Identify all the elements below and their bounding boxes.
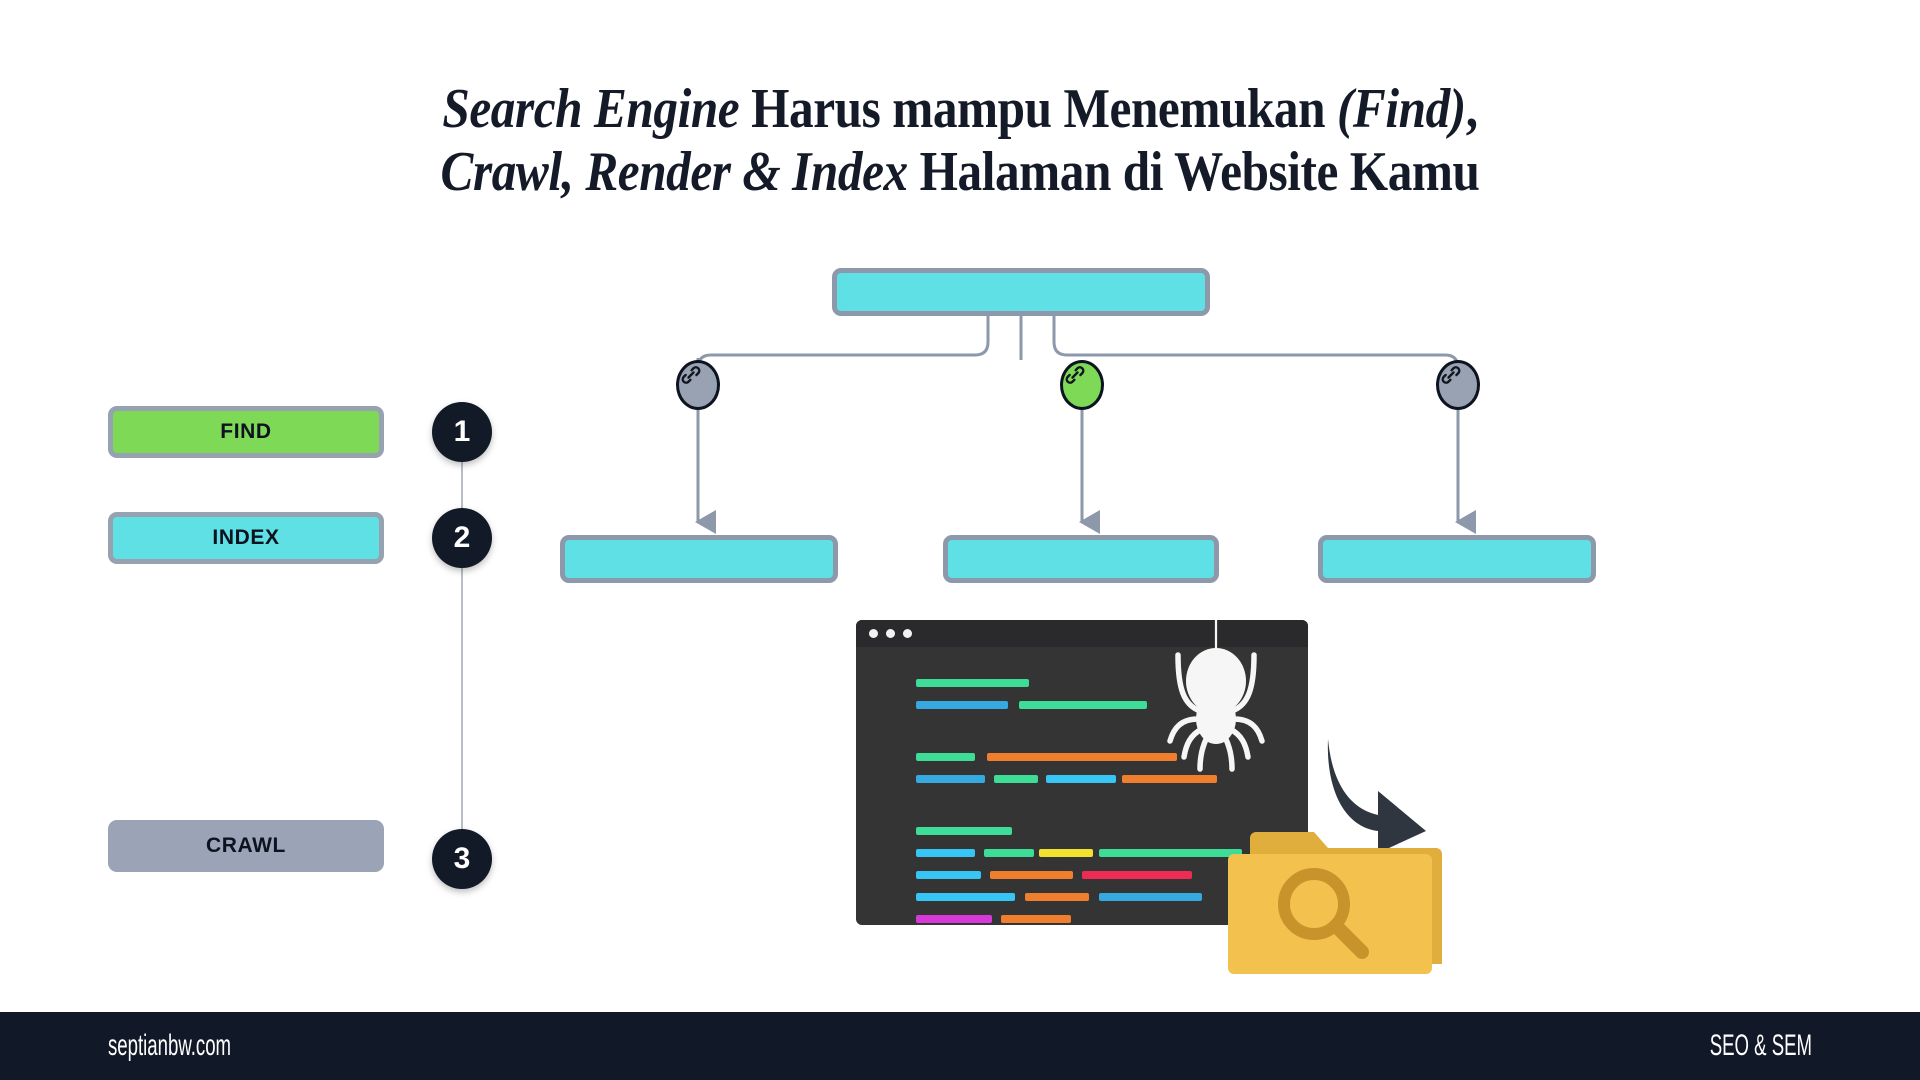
step-badge-3-number: 3 <box>454 842 471 876</box>
code-line-segment <box>1099 893 1202 901</box>
code-line-segment <box>1025 893 1089 901</box>
code-line-segment <box>916 679 1029 687</box>
link-icon[interactable] <box>1060 360 1104 410</box>
code-line-segment <box>916 849 975 857</box>
code-line-segment <box>916 701 1008 709</box>
title-text-2: , <box>1466 78 1478 140</box>
site-tree-diagram <box>560 230 1680 630</box>
code-line-segment <box>984 849 1034 857</box>
code-line-segment <box>1039 849 1093 857</box>
step-chip-index-label: INDEX <box>212 526 279 550</box>
code-line-segment <box>1001 915 1071 923</box>
folder-search-icon <box>1228 822 1450 974</box>
tree-node-child-2[interactable] <box>943 535 1219 583</box>
step-chip-index[interactable]: INDEX <box>108 512 384 564</box>
tree-node-child-1[interactable] <box>560 535 838 583</box>
steps-column: FIND INDEX CRAWL 1 2 3 <box>0 0 520 1080</box>
code-line-segment <box>1019 701 1147 709</box>
window-dot-icon <box>869 629 878 638</box>
step-chip-crawl[interactable]: CRAWL <box>108 820 384 872</box>
footer-site-name: septianbw.com <box>108 1029 231 1063</box>
window-dot-icon <box>886 629 895 638</box>
footer-bar: septianbw.com SEO & SEM <box>0 1012 1920 1080</box>
code-line-segment <box>1046 775 1116 783</box>
step-badge-2: 2 <box>432 508 492 568</box>
link-icon-glyph <box>1439 363 1463 387</box>
code-line-segment <box>916 827 1012 835</box>
link-icon[interactable] <box>676 360 720 410</box>
step-chip-find-label: FIND <box>220 420 271 444</box>
title-text-3: Halaman di Website Kamu <box>908 141 1480 203</box>
title-text-1: Harus mampu Menemukan <box>739 78 1337 140</box>
step-chip-find[interactable]: FIND <box>108 406 384 458</box>
tree-node-child-3[interactable] <box>1318 535 1596 583</box>
link-icon-glyph <box>1063 363 1087 387</box>
link-icon-glyph <box>679 363 703 387</box>
step-badge-1-number: 1 <box>454 415 471 449</box>
tree-node-root[interactable] <box>832 268 1210 316</box>
step-badge-2-number: 2 <box>454 521 471 555</box>
code-line-segment <box>916 871 981 879</box>
code-line-segment <box>990 871 1073 879</box>
code-line-segment <box>994 775 1038 783</box>
spider-icon <box>1156 620 1276 793</box>
code-line-segment <box>1082 871 1192 879</box>
code-line-segment <box>916 775 985 783</box>
title-emphasis-find: (Find) <box>1337 78 1466 140</box>
code-line-segment <box>916 893 1015 901</box>
code-line-segment <box>1099 849 1242 857</box>
step-chip-crawl-label: CRAWL <box>206 834 286 858</box>
spider-icon-glyph <box>1156 620 1276 793</box>
code-line-segment <box>916 753 975 761</box>
step-badge-1: 1 <box>432 402 492 462</box>
link-icon[interactable] <box>1436 360 1480 410</box>
step-badge-3: 3 <box>432 829 492 889</box>
footer-topic-label: SEO & SEM <box>1710 1029 1812 1063</box>
code-line-segment <box>916 915 992 923</box>
folder-search-glyph <box>1228 822 1450 974</box>
window-dot-icon <box>903 629 912 638</box>
code-line-segment <box>987 753 1177 761</box>
